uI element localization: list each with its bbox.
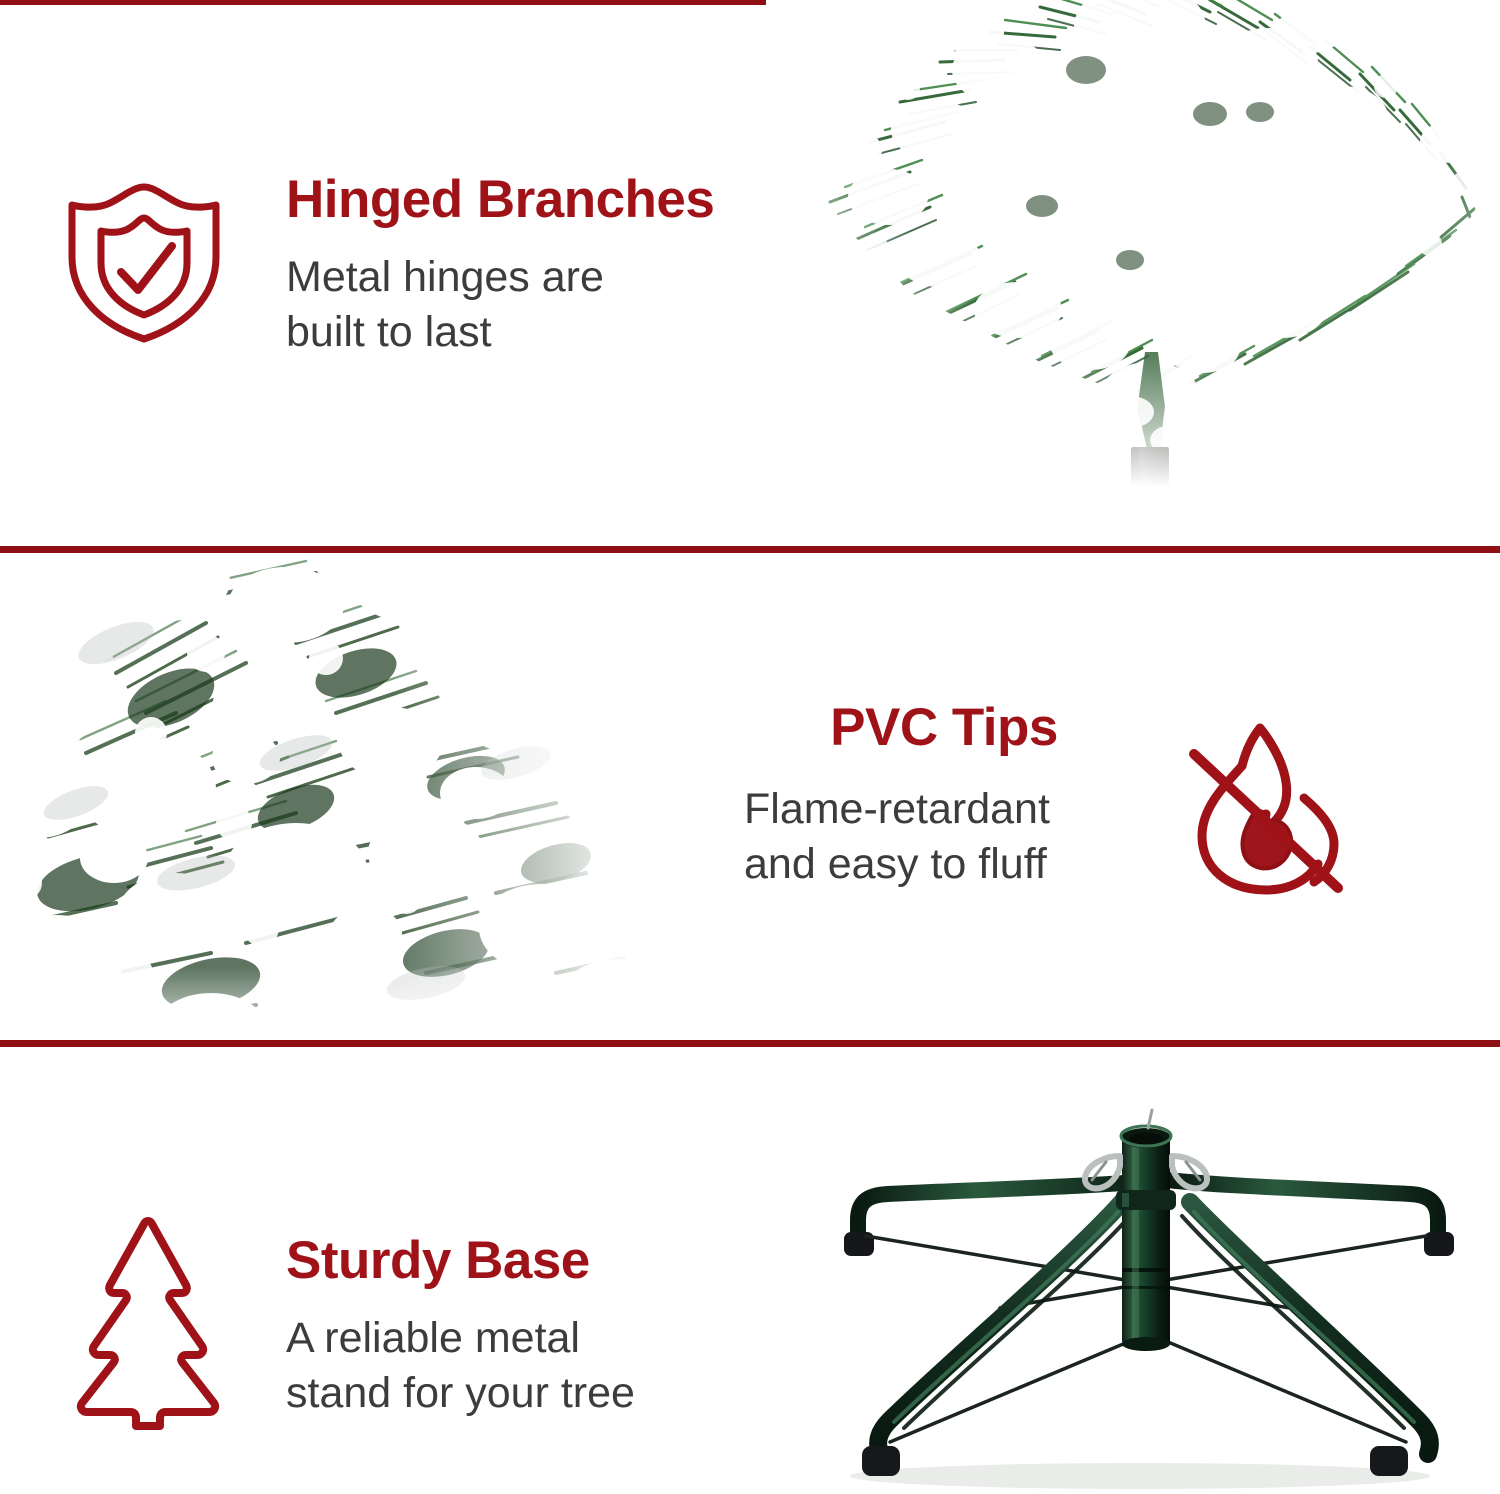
panel-sturdy-base: Sturdy Base A reliable metal stand for y… xyxy=(0,1047,1500,1494)
christmas-tree-icon xyxy=(62,1213,234,1433)
divider-rule-2 xyxy=(0,1040,1500,1047)
panel-2-subtext-line-1: Flame-retardant xyxy=(744,785,1050,833)
shield-check-icon xyxy=(60,175,228,347)
panel-3-subtext-line-2: stand for your tree xyxy=(286,1369,635,1417)
sturdy-base-text-block: Sturdy Base A reliable metal stand for y… xyxy=(286,1233,746,1421)
no-flame-icon xyxy=(1186,718,1351,900)
snow-flocked-branch-closeup-photo xyxy=(0,553,636,1040)
panel-3-subtext-line-1: A reliable metal xyxy=(286,1314,580,1362)
metal-tree-stand-photo xyxy=(770,1090,1500,1494)
panel-1-subtext-line-1: Metal hinges are xyxy=(286,253,604,301)
hinged-branches-text-block: Hinged Branches Metal hinges are built t… xyxy=(286,172,746,360)
product-feature-infographic: Hinged Branches Metal hinges are built t… xyxy=(0,0,1500,1494)
panel-3-heading: Sturdy Base xyxy=(286,1233,746,1289)
panel-3-subtext: A reliable metal stand for your tree xyxy=(286,1311,746,1421)
panel-2-subtext: Flame-retardant and easy to fluff xyxy=(744,782,1144,892)
panel-1-heading: Hinged Branches xyxy=(286,172,746,228)
panel-1-subtext: Metal hinges are built to last xyxy=(286,250,746,360)
divider-rule-1 xyxy=(0,546,1500,553)
panel-2-subtext-line-2: and easy to fluff xyxy=(744,840,1047,888)
panel-2-heading: PVC Tips xyxy=(744,700,1144,756)
flocked-christmas-tree-branch-photo xyxy=(790,0,1500,520)
panel-pvc-tips: PVC Tips Flame-retardant and easy to flu… xyxy=(0,553,1500,1040)
pvc-tips-text-block: PVC Tips Flame-retardant and easy to flu… xyxy=(744,700,1144,892)
panel-1-subtext-line-2: built to last xyxy=(286,308,492,356)
panel-hinged-branches: Hinged Branches Metal hinges are built t… xyxy=(0,0,1500,546)
